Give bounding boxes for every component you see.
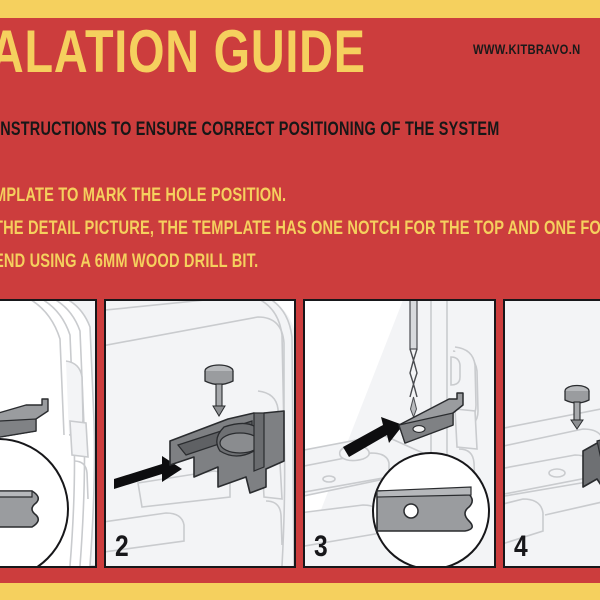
page-subtitle: INSTRUCTIONS TO ENSURE CORRECT POSITIONI… (0, 120, 500, 139)
website-url: WWW.KITBRAVO.N (473, 42, 581, 56)
panel-number: 2 (115, 532, 129, 562)
panel-number: 4 (514, 532, 528, 562)
illustration-panel-3: 3 (303, 299, 496, 568)
illustration-panel-1 (0, 299, 97, 568)
magnified-detail-circle (0, 439, 68, 568)
magnified-detail-circle (373, 453, 489, 568)
template-plate-part (0, 399, 48, 443)
top-yellow-band (0, 0, 600, 18)
instruction-line: END USING A 6MM WOOD DRILL BIT. (0, 252, 491, 271)
bottom-yellow-band (0, 583, 600, 600)
instruction-line: MPLATE TO MARK THE HOLE POSITION. (0, 186, 491, 205)
illustration-panel-2: 2 (104, 299, 296, 568)
vehicle-outline-art (505, 301, 600, 566)
page-title: TALATION GUIDE (0, 22, 366, 82)
illustration-panel-row: 2 (0, 299, 600, 568)
illustration-panel-4: 4 (503, 299, 600, 568)
instruction-line: THE DETAIL PICTURE, THE TEMPLATE HAS ONE… (0, 219, 491, 238)
panel-number: 3 (314, 532, 328, 562)
instruction-list: MPLATE TO MARK THE HOLE POSITION. THE DE… (0, 186, 600, 285)
installation-guide-poster: TALATION GUIDE WWW.KITBRAVO.N INSTRUCTIO… (0, 0, 600, 600)
